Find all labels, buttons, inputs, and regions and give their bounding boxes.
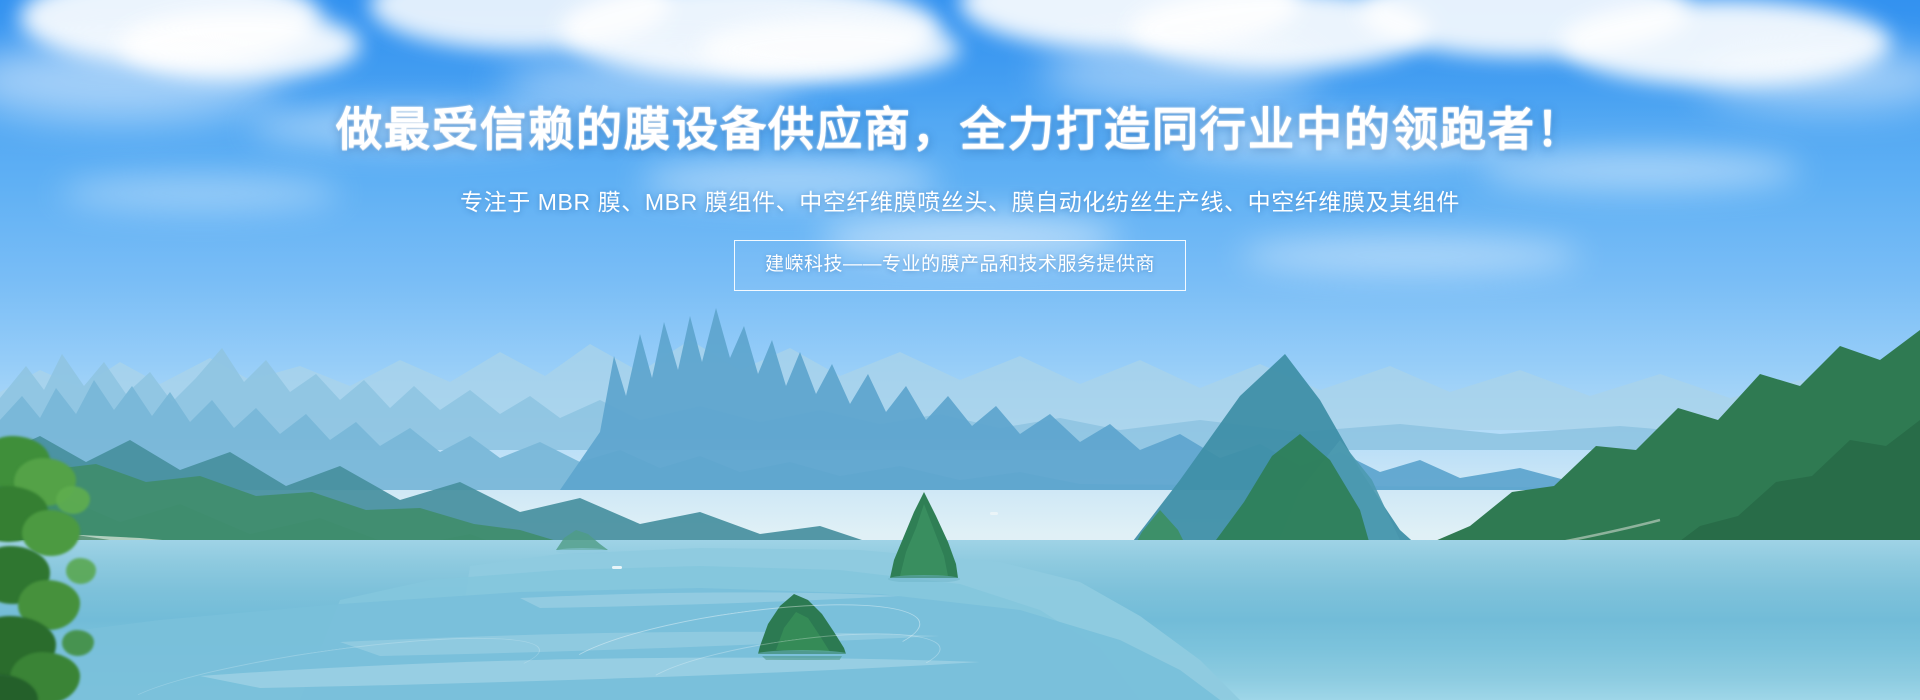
islet-far-small bbox=[552, 520, 612, 554]
banner-tagline-box: 建嵘科技——专业的膜产品和技术服务提供商 bbox=[734, 240, 1186, 291]
banner-subtitle: 专注于 MBR 膜、MBR 膜组件、中空纤维膜喷丝头、膜自动化纺丝生产线、中空纤… bbox=[0, 187, 1920, 217]
foreground-foliage bbox=[0, 430, 150, 700]
banner-headline: 做最受信赖的膜设备供应商，全力打造同行业中的领跑者！ bbox=[0, 103, 1920, 155]
boat-speck-1 bbox=[612, 566, 622, 569]
hero-banner: 做最受信赖的膜设备供应商，全力打造同行业中的领跑者！ 专注于 MBR 膜、MBR… bbox=[0, 0, 1920, 700]
boat-speck-2 bbox=[990, 512, 998, 515]
islet-center bbox=[878, 490, 970, 582]
